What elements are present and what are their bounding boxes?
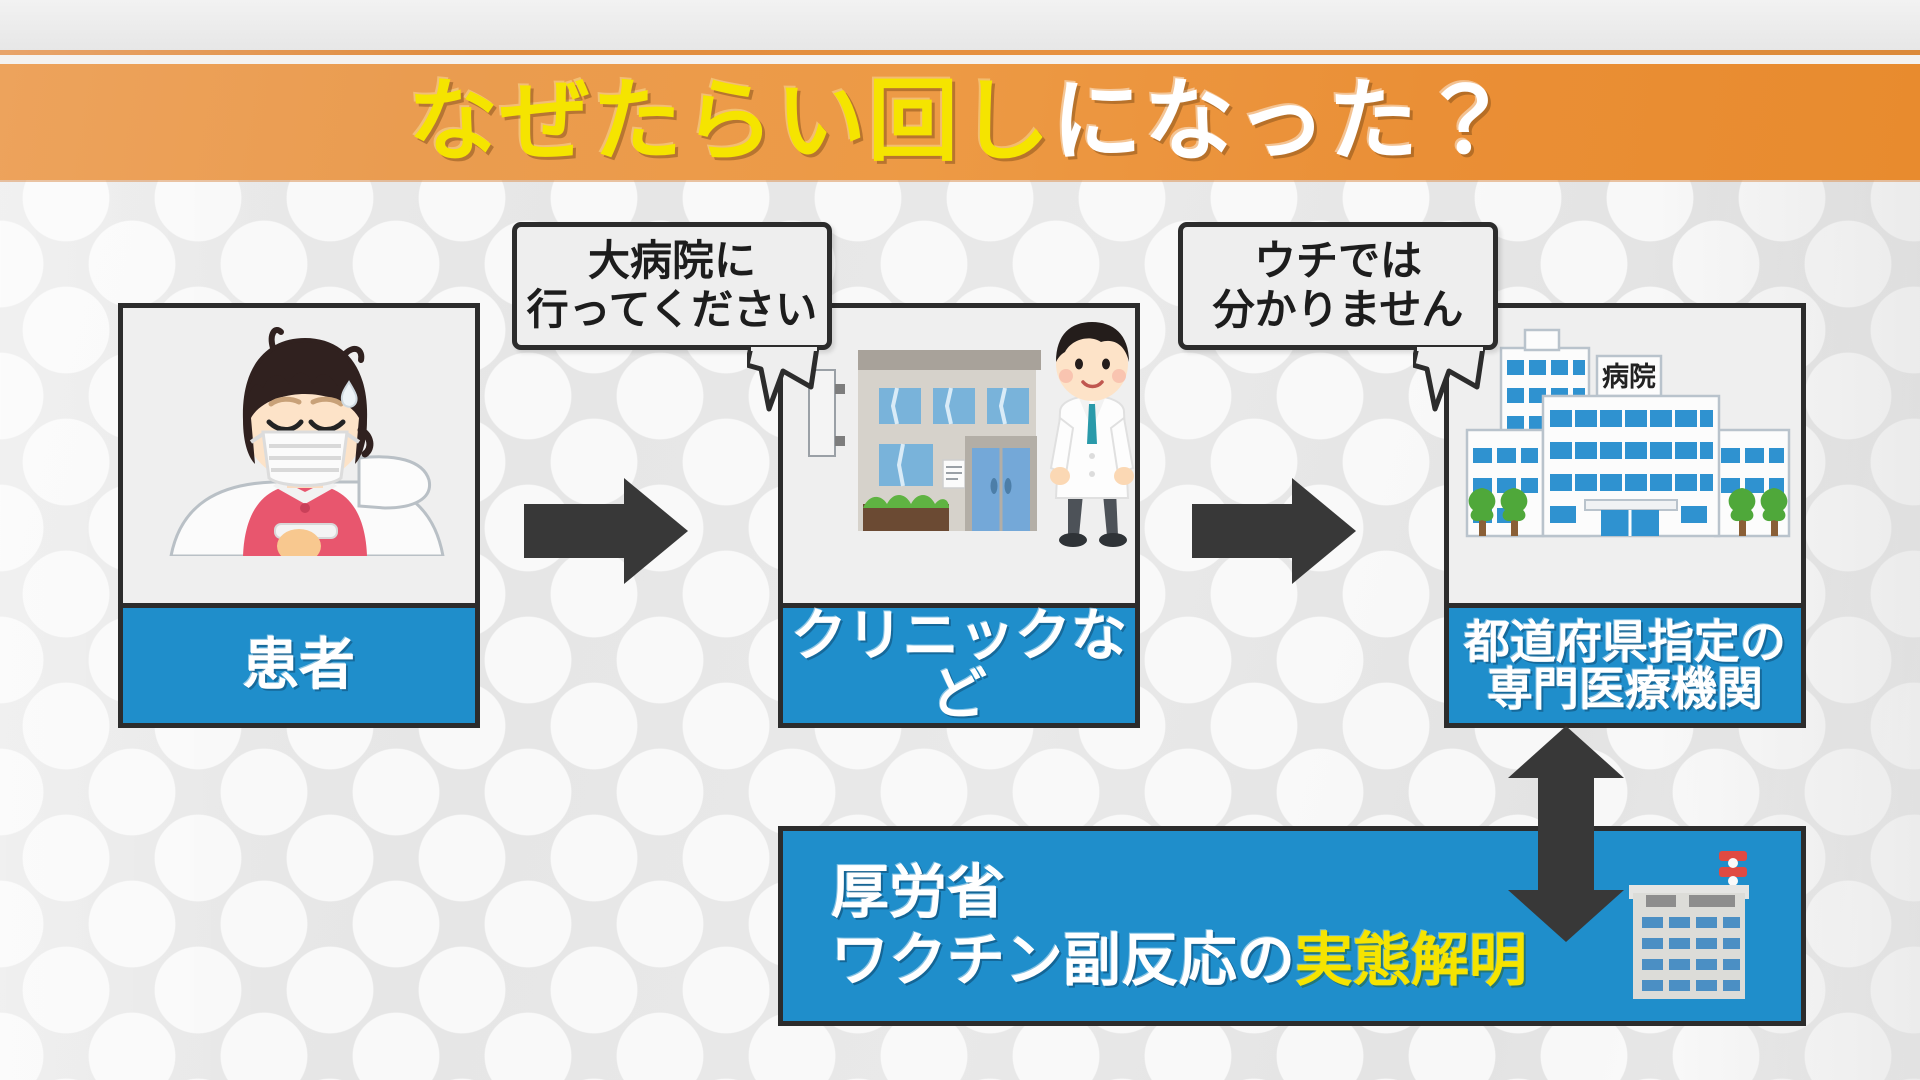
speech-bubble-hospital-line2: 分かりません <box>1213 286 1464 335</box>
clinic-illustration <box>783 308 1135 556</box>
arrow-ministry-hospital <box>1508 726 1624 942</box>
flow-card-hospital-label-line2: 専門医療機関 <box>1487 666 1763 713</box>
arrow-head <box>624 478 688 584</box>
ministry-banner-highlight: 実態解明 <box>1295 926 1527 994</box>
arrow-shaft <box>1538 770 1594 890</box>
broadcast-graphic-stage: なぜたらい回しになった？ <box>0 0 1920 1080</box>
flow-card-clinic[interactable]: クリニックなど <box>778 303 1140 728</box>
hospital-sign-text: 病院 <box>1602 362 1656 393</box>
arrow-clinic-to-hospital <box>1192 478 1360 584</box>
ministry-banner-line2: ワクチン副反応の実態解明 <box>831 926 1527 994</box>
arrow-patient-to-clinic <box>524 478 692 584</box>
arrow-shaft <box>524 504 632 558</box>
arrow-shaft <box>1192 504 1300 558</box>
ministry-banner-text: 厚労省 ワクチン副反応の実態解明 <box>783 858 1527 995</box>
hospital-illustration: 病院 <box>1449 308 1801 556</box>
flow-card-clinic-label-text: クリニックなど <box>783 608 1135 722</box>
flow-card-hospital-label-line1: 都道府県指定の <box>1464 619 1786 666</box>
ministry-banner-line2-white: ワクチン副反応の <box>831 926 1295 994</box>
flow-card-patient[interactable]: 患者 <box>118 303 480 728</box>
speech-bubble-clinic-line2: 行ってください <box>527 286 818 335</box>
flow-card-patient-label-text: 患者 <box>243 637 355 694</box>
speech-bubble-tail-icon <box>1413 347 1487 417</box>
flow-card-patient-label: 患者 <box>118 603 480 728</box>
page-title-white: になった？ <box>1052 69 1512 174</box>
speech-bubble-tail-icon <box>747 347 821 417</box>
speech-bubble-clinic-line1: 大病院に <box>588 237 756 286</box>
arrow-head <box>1292 478 1356 584</box>
flow-card-clinic-label: クリニックなど <box>778 603 1140 728</box>
government-building-icon <box>1613 837 1763 1007</box>
ministry-banner-line1: 厚労省 <box>831 858 1527 926</box>
flow-card-hospital-label: 都道府県指定の 専門医療機関 <box>1444 603 1806 728</box>
page-title: なぜたらい回しになった？ <box>0 77 1920 167</box>
arrow-head-down <box>1508 890 1624 942</box>
title-bar: なぜたらい回しになった？ <box>0 64 1920 180</box>
speech-bubble-clinic: 大病院に 行ってください <box>512 222 832 350</box>
rule-gap <box>0 55 1920 64</box>
top-strip <box>0 0 1920 50</box>
flow-card-hospital[interactable]: 病院 <box>1444 303 1806 728</box>
speech-bubble-hospital-line1: ウチでは <box>1254 237 1422 286</box>
ministry-banner[interactable]: 厚労省 ワクチン副反応の実態解明 <box>778 826 1806 1026</box>
page-title-yellow: なぜたらい回し <box>408 69 1052 174</box>
patient-illustration <box>123 308 475 556</box>
speech-bubble-hospital: ウチでは 分かりません <box>1178 222 1498 350</box>
